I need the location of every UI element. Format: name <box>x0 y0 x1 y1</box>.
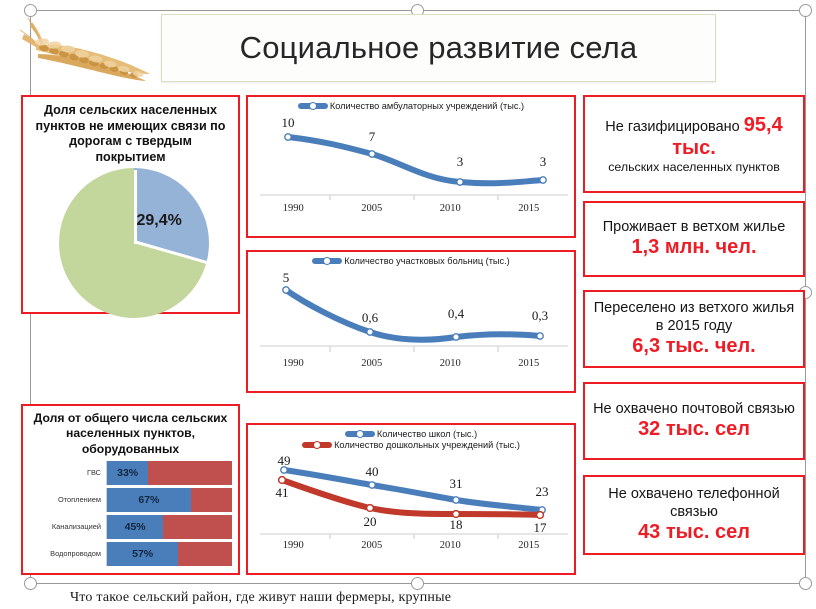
legend-label: Количество дошкольных учреждений (тыс.) <box>334 440 520 450</box>
point-label-2015: 0,3 <box>532 308 548 323</box>
x-tick: 2005 <box>361 203 382 214</box>
pie-chart-panel[interactable]: Доля сельских населенных пунктов не имею… <box>21 95 240 314</box>
bar-fill: 67% <box>107 488 191 512</box>
pie-chart-plot: 29,4% <box>51 168 211 292</box>
legend-label: Количество амбулаторных учреждений (тыс.… <box>330 101 524 111</box>
stat-sub-text: сельских населенных пунктов <box>608 160 780 174</box>
chart-x-axis: 1990 2005 2010 2015 <box>248 540 574 551</box>
chart-plot: 49 40 31 23 41 20 18 17 <box>248 450 574 540</box>
stat-value-number: 95,4 <box>744 114 783 136</box>
point-label-2010: 3 <box>457 154 464 169</box>
line-chart-schools-panel[interactable]: Количество школ (тыс.) Количество дошкол… <box>246 423 576 575</box>
point-label-schools-2005: 40 <box>366 464 379 479</box>
bar-category-label: ГВС <box>29 468 106 477</box>
wheat-ear-image <box>14 12 164 90</box>
x-tick: 1990 <box>283 540 304 551</box>
resize-handle-bottom-center[interactable] <box>411 577 424 590</box>
x-tick: 2005 <box>361 540 382 551</box>
notes-paragraph: Что такое сельский район, где живут наши… <box>70 590 770 606</box>
slide-title-box[interactable]: Социальное развитие села <box>161 14 716 82</box>
bar-category-label: Отоплением <box>29 495 106 504</box>
stat-value: 32 тыс. сел <box>638 418 750 441</box>
legend-label: Количество школ (тыс.) <box>377 429 477 439</box>
bar-track: 67% <box>106 488 232 512</box>
point-label-2005: 0,6 <box>362 310 379 325</box>
chart-legend: Количество участковых больниц (тыс.) <box>248 252 574 266</box>
legend-marker-line-icon <box>302 442 332 448</box>
slide-canvas: Социальное развитие села Доля сельских н… <box>0 0 816 609</box>
bar-row: Водопроводом 57% <box>29 542 232 566</box>
point-label-schools-2015: 23 <box>536 484 549 499</box>
point-label-2015: 3 <box>540 154 547 169</box>
x-tick: 2015 <box>518 203 539 214</box>
bar-chart-plot: ГВС 33% Отоплением 67% Канализацией <box>29 461 232 571</box>
x-tick: 2010 <box>440 203 461 214</box>
bar-category-label: Водопроводом <box>29 549 106 558</box>
bar-chart-panel[interactable]: Доля от общего числа сельских населенных… <box>21 404 240 575</box>
stat-lead-label: Проживает в ветхом жилье <box>603 219 786 236</box>
stat-lead-label: Не охвачено телефонной связью <box>591 486 797 521</box>
point-label-preschool-1990: 41 <box>276 485 289 500</box>
stat-card-telephone[interactable]: Не охвачено телефонной связью 43 тыс. се… <box>583 475 805 555</box>
chart-legend: Количество школ (тыс.) Количество дошкол… <box>248 425 574 450</box>
stat-value: 43 тыс. сел <box>638 521 750 544</box>
stat-card-dilapidated-housing[interactable]: Проживает в ветхом жилье 1,3 млн. чел. <box>583 201 805 277</box>
chart-legend: Количество амбулаторных учреждений (тыс.… <box>248 97 574 111</box>
bar-chart-title: Доля от общего числа сельских населенных… <box>23 406 238 457</box>
legend-marker-line-icon <box>298 103 328 109</box>
resize-handle-top-right[interactable] <box>799 4 812 17</box>
resize-handle-bottom-left[interactable] <box>24 577 37 590</box>
chart-x-axis: 1990 2005 2010 2015 <box>248 358 574 369</box>
point-label-2010: 0,4 <box>448 306 465 321</box>
legend-marker-line-icon <box>312 258 342 264</box>
x-tick: 2010 <box>440 358 461 369</box>
legend-item[interactable]: Количество дошкольных учреждений (тыс.) <box>302 440 520 450</box>
pie-chart-title: Доля сельских населенных пунктов не имею… <box>23 97 238 166</box>
x-tick: 2015 <box>518 358 539 369</box>
bar-track: 33% <box>106 461 232 485</box>
stat-card-postal[interactable]: Не охвачено почтовой связью 32 тыс. сел <box>583 382 805 460</box>
x-tick: 2010 <box>440 540 461 551</box>
bar-row: Канализацией 45% <box>29 515 232 539</box>
point-label-2005: 7 <box>369 129 376 144</box>
resize-handle-bottom-right[interactable] <box>799 577 812 590</box>
point-label-preschool-2010: 18 <box>450 517 463 532</box>
stat-value: 6,3 тыс. чел. <box>632 335 755 358</box>
x-tick: 2005 <box>361 358 382 369</box>
chart-plot: 5 0,6 0,4 0,3 <box>248 266 574 358</box>
line-chart-ambulatory-panel[interactable]: Количество амбулаторных учреждений (тыс.… <box>246 95 576 238</box>
point-label-schools-2010: 31 <box>450 476 463 491</box>
point-label-preschool-2005: 20 <box>364 514 377 529</box>
legend-item[interactable]: Количество школ (тыс.) <box>345 429 477 439</box>
bar-track: 45% <box>106 515 232 539</box>
legend-marker-line-icon <box>345 431 375 437</box>
bar-track: 57% <box>106 542 232 566</box>
stat-value-unit: тыс. <box>672 137 716 160</box>
chart-plot: 10 7 3 3 <box>248 111 574 203</box>
bar-fill: 57% <box>107 542 178 566</box>
legend-item[interactable]: Количество участковых больниц (тыс.) <box>312 256 509 266</box>
bar-data-label: 67% <box>138 494 159 506</box>
bar-data-label: 33% <box>117 467 138 479</box>
pie-gap-top <box>134 170 137 244</box>
stat-lead-label: Не газифицировано <box>605 119 739 135</box>
bar-fill: 45% <box>107 515 163 539</box>
legend-label: Количество участковых больниц (тыс.) <box>344 256 509 266</box>
x-tick: 1990 <box>283 358 304 369</box>
line-chart-hospitals-panel[interactable]: Количество участковых больниц (тыс.) 5 0… <box>246 250 576 393</box>
point-label-preschool-2015: 17 <box>534 520 548 535</box>
point-label-schools-1990: 49 <box>278 453 291 468</box>
point-label-1990: 5 <box>283 270 290 285</box>
legend-item[interactable]: Количество амбулаторных учреждений (тыс.… <box>298 101 524 111</box>
bar-data-label: 57% <box>132 548 153 560</box>
x-tick: 2015 <box>518 540 539 551</box>
stat-card-gasification[interactable]: Не газифицировано 95,4 тыс. сельских нас… <box>583 95 805 193</box>
point-label-1990: 10 <box>282 115 295 130</box>
stat-lead-label: Не охвачено почтовой связью <box>593 401 795 418</box>
bar-fill: 33% <box>107 461 148 485</box>
bar-data-label: 45% <box>125 521 146 533</box>
chart-x-axis: 1990 2005 2010 2015 <box>248 203 574 214</box>
slide-title: Социальное развитие села <box>240 30 638 66</box>
x-tick: 1990 <box>283 203 304 214</box>
bar-row: ГВС 33% <box>29 461 232 485</box>
stat-lead-label: Переселено из ветхого жилья в 2015 году <box>591 300 797 335</box>
stat-card-resettled[interactable]: Переселено из ветхого жилья в 2015 году … <box>583 290 805 368</box>
bar-row: Отоплением 67% <box>29 488 232 512</box>
bar-category-label: Канализацией <box>29 522 106 531</box>
pie-data-label: 29,4% <box>137 212 182 230</box>
stat-value: 1,3 млн. чел. <box>631 236 756 259</box>
stat-lead-text: Не газифицировано 95,4 <box>605 113 782 137</box>
